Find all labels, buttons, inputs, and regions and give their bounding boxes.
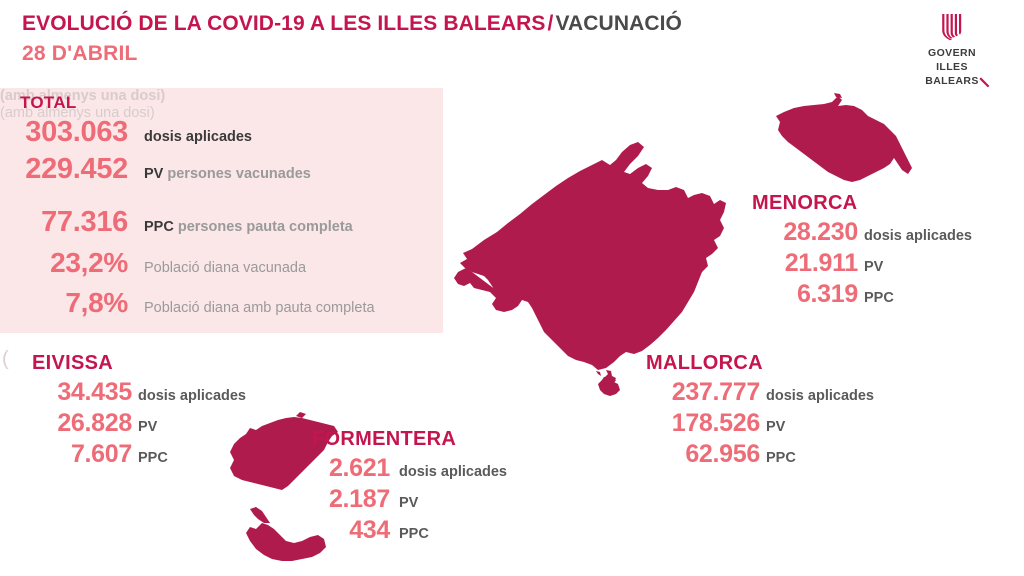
logo-slash-icon (979, 77, 990, 88)
page-title-main: EVOLUCIÓ DE LA COVID-19 A LES ILLES BALE… (22, 12, 546, 35)
island-stats-menorca: MENORCA 28.230 dosis aplicades 21.911 PV… (748, 192, 972, 309)
balearic-shield-icon (940, 14, 964, 42)
total-pct-vaccinated-label: Població diana vacunada (144, 260, 306, 277)
total-ppc-label: PPC persones pauta completa (144, 219, 353, 236)
eivissa-ppc-value: 7.607 (22, 440, 132, 469)
mallorca-ppc-label: PPC (766, 450, 796, 466)
total-pv-label: PV persones vacunades (144, 166, 311, 183)
mallorca-ppc-value: 62.956 (632, 440, 760, 469)
island-stats-formentera: FORMENTERA 2.621 dosis aplicades 2.187 P… (308, 428, 507, 545)
total-doses-label: dosis aplicades (144, 129, 252, 146)
mallorca-row-pv: 178.526 PV (632, 409, 874, 438)
island-name-eivissa: EIVISSA (32, 352, 246, 375)
formentera-pv-label: PV (399, 495, 418, 511)
logo-wordmark: GOVERN ILLES BALEARS (925, 47, 979, 89)
total-row-pct-complete: 7,8% Població diana amb pauta completa (0, 287, 420, 319)
eivissa-doses-label: dosis aplicades (138, 388, 246, 404)
formentera-pv-value: 2.187 (308, 485, 390, 514)
mallorca-pv-value: 178.526 (632, 409, 760, 438)
total-row-pct-vaccinated: 23,2% Població diana vacunada (0, 247, 420, 279)
total-pct-complete-value: 7,8% (0, 287, 128, 319)
formentera-doses-label: dosis aplicades (399, 464, 507, 480)
menorca-row-pv: 21.911 PV (748, 249, 972, 278)
total-summary-panel: TOTAL 303.063 dosis aplicades 229.452 PV… (0, 88, 443, 333)
menorca-row-ppc: 6.319 PPC (748, 280, 972, 309)
menorca-island-map (772, 92, 932, 197)
total-panel-title: TOTAL (20, 93, 77, 113)
logo-line-1: GOVERN (925, 47, 979, 61)
island-rows-eivissa: 34.435 dosis aplicades 26.828 PV 7.607 P… (22, 378, 246, 469)
menorca-doses-label: dosis aplicades (864, 228, 972, 244)
formentera-ppc-value: 434 (308, 516, 390, 545)
eivissa-ppc-label: PPC (138, 450, 168, 466)
island-name-formentera: FORMENTERA (312, 428, 507, 451)
island-stats-mallorca: MALLORCA 237.777 dosis aplicades 178.526… (632, 352, 874, 469)
mallorca-row-doses: 237.777 dosis aplicades (632, 378, 874, 407)
menorca-ppc-label: PPC (864, 290, 894, 306)
formentera-ppc-label: PPC (399, 526, 429, 542)
cabrera-island-map (596, 370, 624, 402)
mallorca-doses-label: dosis aplicades (766, 388, 874, 404)
page-title-section: VACUNACIÓ (555, 12, 682, 35)
report-date: 28 D'ABRIL (22, 42, 682, 66)
menorca-pv-label: PV (864, 259, 883, 275)
eivissa-row-ppc: 7.607 PPC (22, 440, 246, 469)
logo-line-2: ILLES (925, 61, 979, 75)
formentera-doses-value: 2.621 (308, 454, 390, 483)
page-title: EVOLUCIÓ DE LA COVID-19 A LES ILLES BALE… (22, 12, 682, 37)
island-name-menorca: MENORCA (752, 192, 972, 215)
island-rows-menorca: 28.230 dosis aplicades 21.911 PV 6.319 P… (748, 218, 972, 309)
formentera-row-ppc: 434 PPC (308, 516, 507, 545)
island-name-mallorca: MALLORCA (646, 352, 874, 375)
formentera-row-doses: 2.621 dosis aplicades (308, 454, 507, 483)
total-row-doses: 303.063 dosis aplicades (0, 116, 420, 149)
total-pv-value: 229.452 (0, 153, 128, 186)
island-rows-mallorca: 237.777 dosis aplicades 178.526 PV 62.95… (632, 378, 874, 469)
total-doses-value: 303.063 (0, 116, 128, 149)
total-pct-complete-label: Població diana amb pauta completa (144, 300, 375, 317)
eivissa-row-doses: 34.435 dosis aplicades (22, 378, 246, 407)
header: EVOLUCIÓ DE LA COVID-19 A LES ILLES BALE… (22, 12, 682, 66)
logo-line-3: BALEARS (925, 75, 979, 89)
mallorca-row-ppc: 62.956 PPC (632, 440, 874, 469)
govern-illes-balears-logo: GOVERN ILLES BALEARS (908, 14, 996, 89)
mallorca-pv-label: PV (766, 419, 785, 435)
menorca-ppc-value: 6.319 (748, 280, 858, 309)
eivissa-pv-label: PV (138, 419, 157, 435)
mallorca-doses-value: 237.777 (632, 378, 760, 407)
formentera-row-pv: 2.187 PV (308, 485, 507, 514)
eivissa-doses-value: 34.435 (22, 378, 132, 407)
eivissa-row-pv: 26.828 PV (22, 409, 246, 438)
menorca-pv-value: 21.911 (748, 249, 858, 278)
menorca-row-doses: 28.230 dosis aplicades (748, 218, 972, 247)
paren-decoration: ( (2, 348, 9, 371)
menorca-doses-value: 28.230 (748, 218, 858, 247)
eivissa-pv-value: 26.828 (22, 409, 132, 438)
total-row-ppc: 77.316 PPC persones pauta completa (0, 206, 420, 239)
total-row-pv: 229.452 PV persones vacunades (0, 153, 420, 186)
page-title-separator: / (546, 12, 556, 35)
total-pct-vaccinated-value: 23,2% (0, 247, 128, 279)
island-stats-eivissa: EIVISSA 34.435 dosis aplicades 26.828 PV… (22, 352, 246, 469)
total-ppc-value: 77.316 (0, 206, 128, 239)
island-rows-formentera: 2.621 dosis aplicades 2.187 PV 434 PPC (308, 454, 507, 545)
